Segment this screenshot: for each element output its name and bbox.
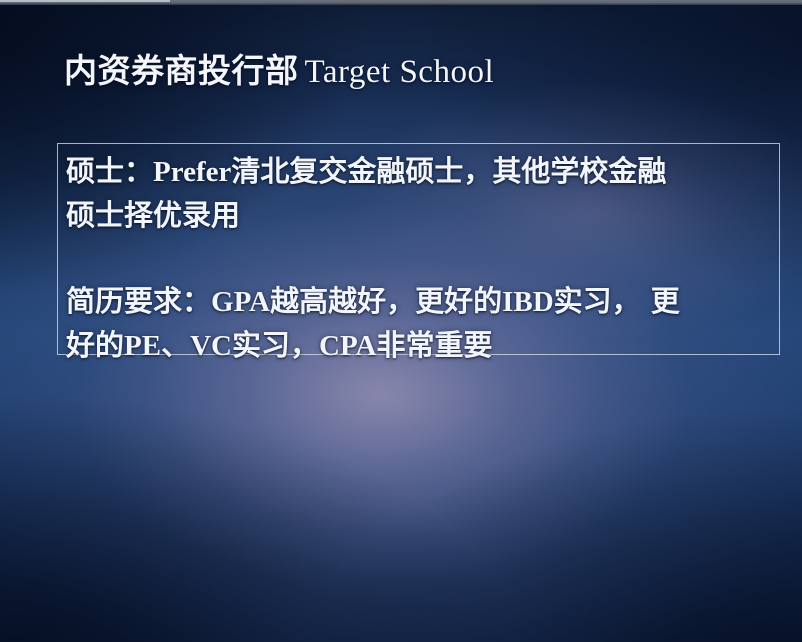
- line-text: 清北复交金融硕士，其他学校金融: [231, 154, 666, 188]
- line-latin: GPA: [211, 286, 270, 318]
- line-latin: IBD: [502, 286, 554, 318]
- paragraph-masters-requirement: 硕士：Prefer清北复交金融硕士，其他学校金融 硕士择优录用: [66, 150, 778, 237]
- line-latin: CPA: [319, 330, 376, 362]
- paragraph-line: 好的PE、VC实习，CPA非常重要: [66, 324, 778, 368]
- line-text: 硕士择优录用: [66, 198, 240, 232]
- line-latin: PE: [124, 330, 161, 362]
- capture-top-strip: [0, 0, 802, 5]
- capture-top-strip-highlight: [0, 0, 170, 2]
- line-text: 简历要求：: [66, 284, 211, 318]
- line-text: 、: [161, 328, 190, 362]
- paragraph-resume-requirement: 简历要求：GPA越高越好，更好的IBD实习， 更 好的PE、VC实习，CPA非常…: [66, 280, 778, 368]
- line-text: 越高越好，更好的: [270, 284, 502, 318]
- slide-body-text: 硕士：Prefer清北复交金融硕士，其他学校金融 硕士择优录用 简历要求：GPA…: [66, 150, 778, 368]
- presentation-slide: 内资券商投行部Target School 硕士：Prefer清北复交金融硕士，其…: [0, 0, 802, 642]
- line-text: 硕士：: [66, 154, 153, 188]
- line-latin: Prefer: [153, 156, 231, 188]
- line-text: 实习， 更: [554, 284, 680, 318]
- line-text: 非常重要: [376, 328, 492, 362]
- line-text: 实习，: [232, 328, 319, 362]
- slide-title: 内资券商投行部Target School: [64, 52, 494, 92]
- line-text: 好的: [66, 328, 124, 362]
- slide-title-english: Target School: [299, 54, 495, 90]
- paragraph-line: 硕士：Prefer清北复交金融硕士，其他学校金融: [66, 150, 778, 194]
- paragraph-line: 硕士择优录用: [66, 194, 778, 237]
- slide-title-chinese: 内资券商投行部: [64, 51, 299, 90]
- line-latin: VC: [190, 330, 232, 362]
- paragraph-line: 简历要求：GPA越高越好，更好的IBD实习， 更: [66, 280, 778, 324]
